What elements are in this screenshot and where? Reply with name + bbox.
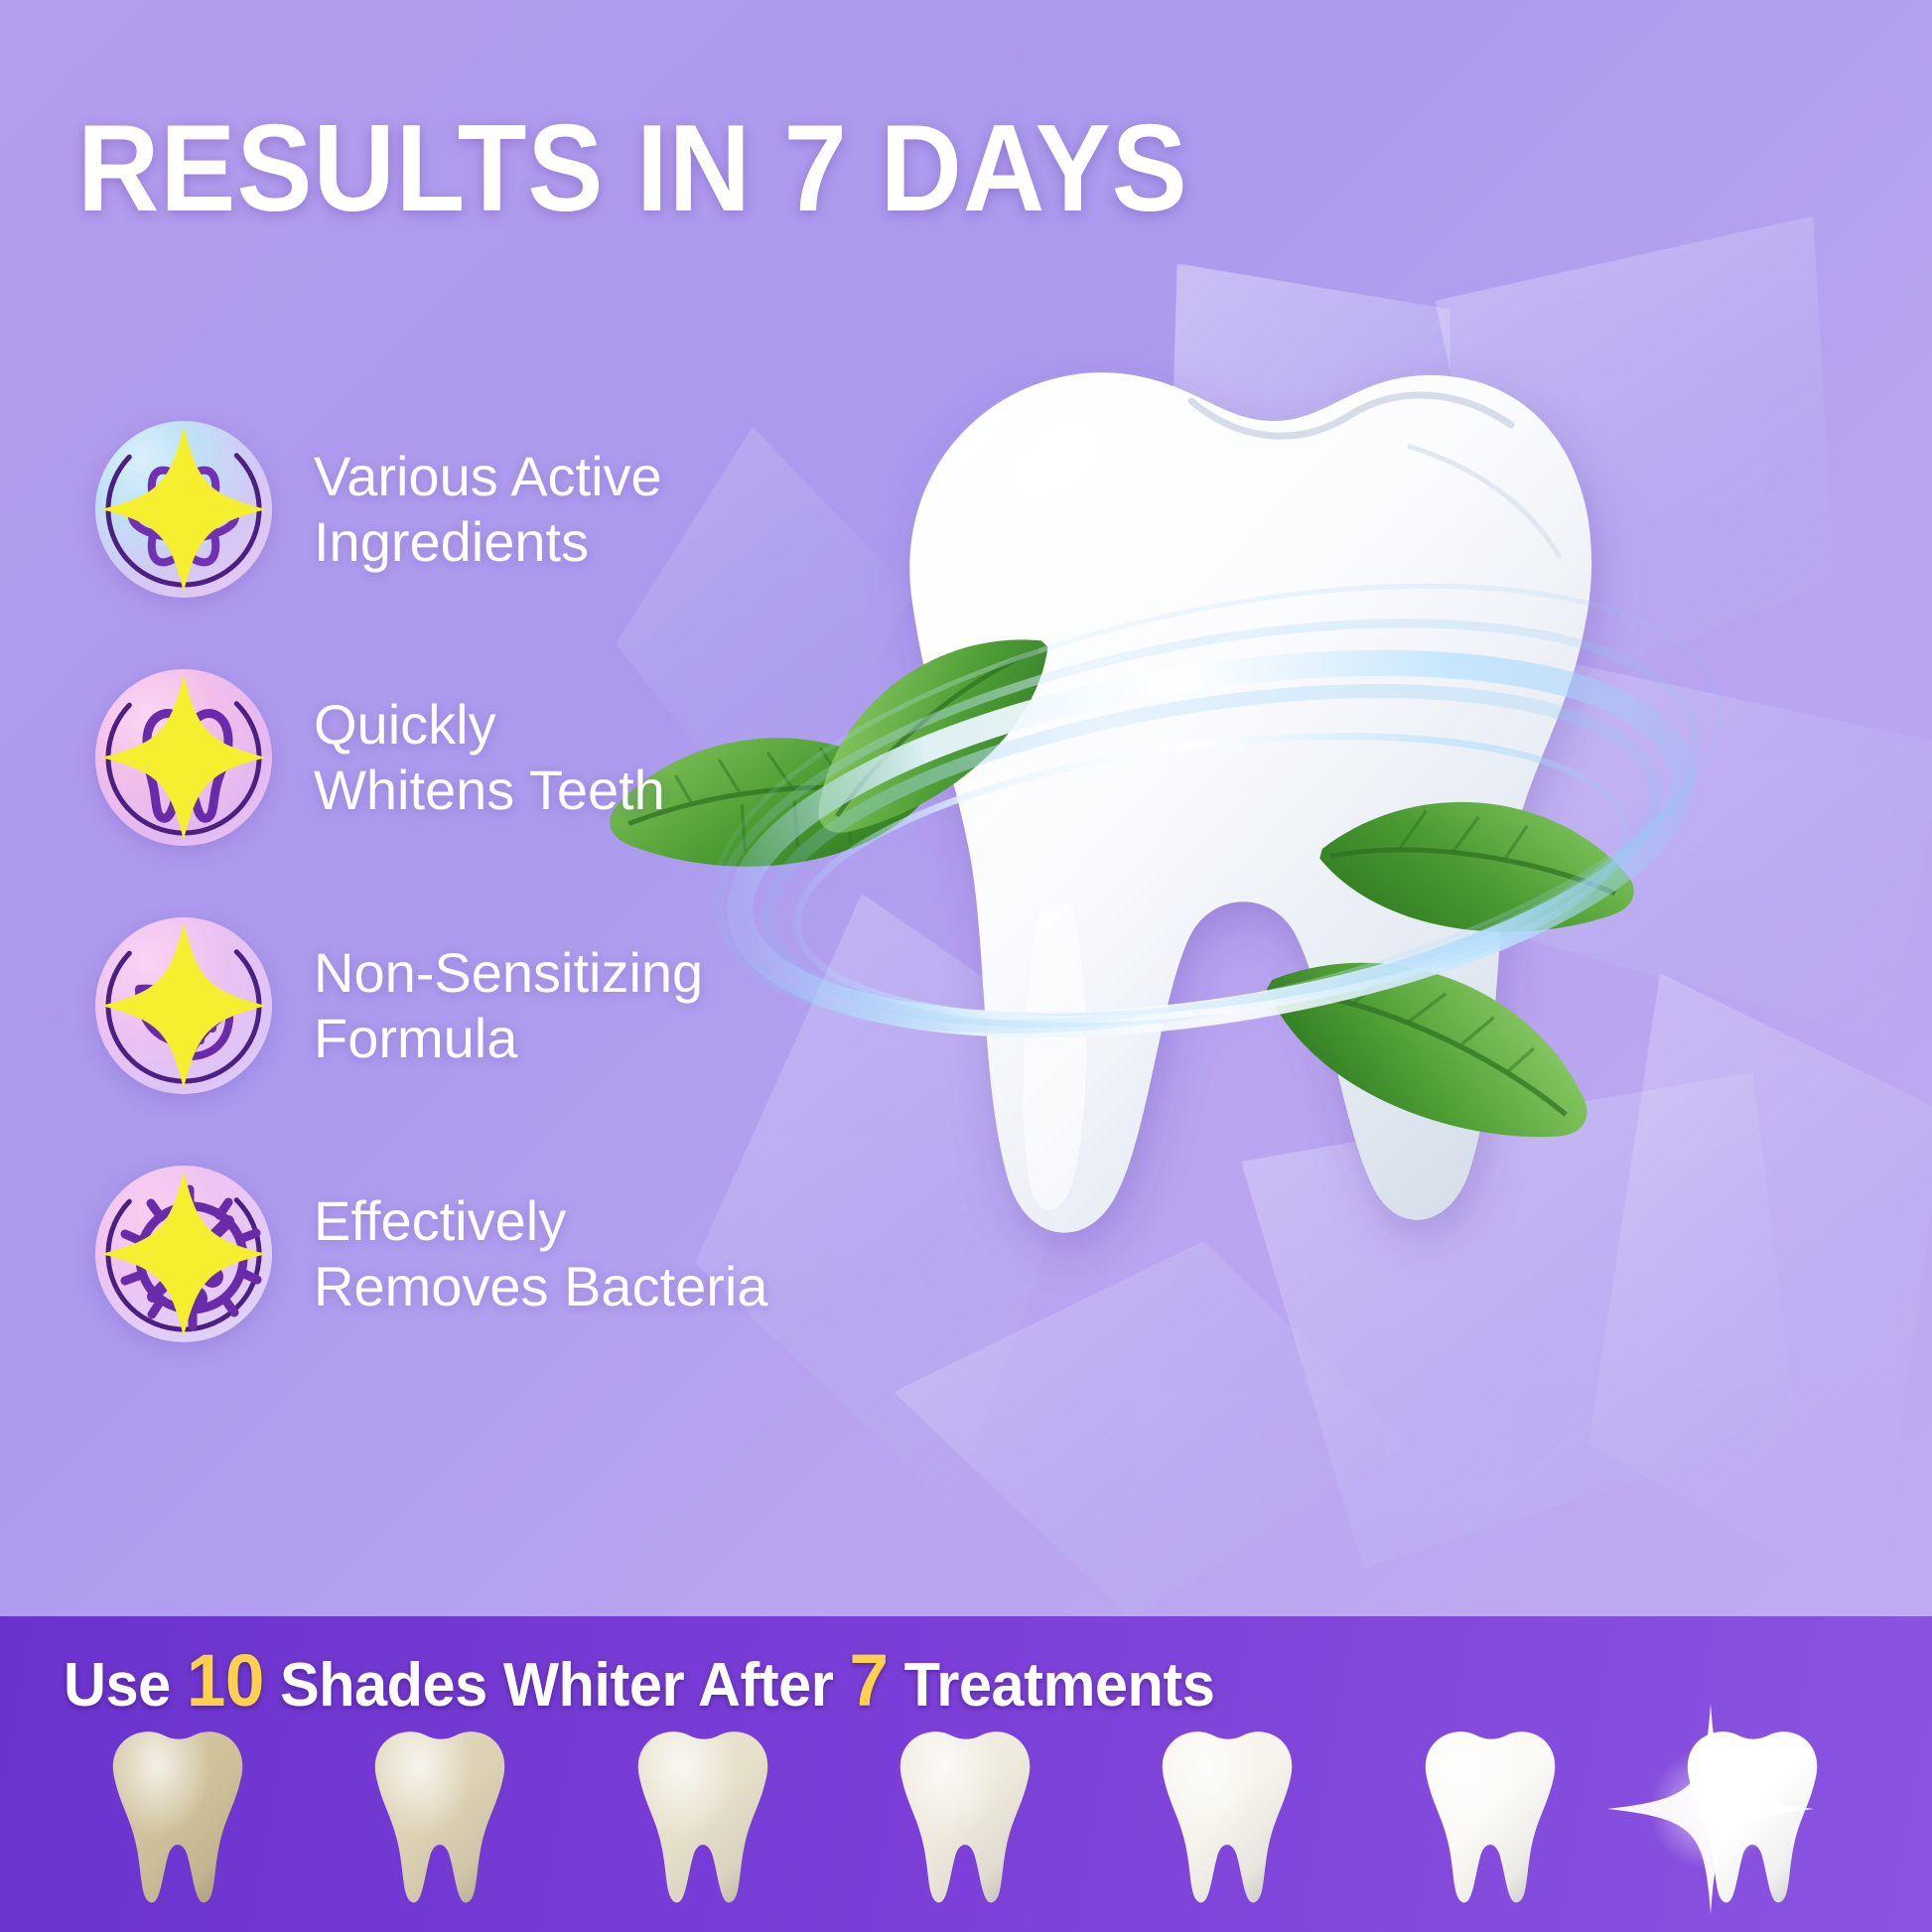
- hero-tooth-graphic: [774, 298, 1668, 1311]
- feature-line-2: Formula: [314, 1006, 703, 1071]
- sparkle-icon: [95, 917, 272, 1094]
- page-title: RESULTS IN 7 DAYS: [77, 107, 1188, 230]
- feature-line-2: Whitens Teeth: [314, 758, 665, 823]
- banner-caption: Use 10 Shades Whiter After 7 Treatments: [64, 1638, 1214, 1723]
- caption-part-1: Use: [64, 1651, 171, 1720]
- feature-text: Quickly Whitens Teeth: [314, 692, 665, 823]
- caption-part-3: Treatments: [904, 1651, 1215, 1720]
- tooth-shade-5: [1134, 1716, 1322, 1922]
- feature-text: Various Active Ingredients: [314, 444, 662, 575]
- feature-line-1: Non-Sensitizing: [314, 940, 703, 1006]
- feature-line-1: Quickly: [314, 692, 665, 758]
- tooth-shade-scale: [0, 1712, 1932, 1928]
- leaves-icon: [95, 917, 272, 1094]
- tooth-icon: [95, 669, 272, 846]
- tooth-shade-1: [84, 1716, 273, 1922]
- feature-item: Effectively Removes Bacteria: [77, 1130, 812, 1378]
- product-poster: RESULTS IN 7 DAYS: [0, 0, 1932, 1932]
- caption-number-treatments: 7: [850, 1639, 889, 1722]
- tooth-shade-6: [1397, 1716, 1586, 1922]
- tooth-shade-2: [346, 1716, 535, 1922]
- no-germs-icon: [95, 1166, 272, 1342]
- shade-progress-banner: Use 10 Shades Whiter After 7 Treatments: [0, 1616, 1932, 1932]
- atom-icon: [95, 421, 272, 598]
- feature-list: Various Active Ingredients Quickly White…: [77, 385, 812, 1378]
- feature-item: Quickly Whitens Teeth: [77, 633, 812, 882]
- sparkle-icon: [95, 1166, 272, 1342]
- caption-number-shades: 10: [187, 1639, 264, 1722]
- feature-line-1: Effectively: [314, 1188, 768, 1254]
- tooth-shade-3: [610, 1716, 798, 1922]
- sparkle-icon: [95, 421, 272, 598]
- tooth-shade-7: [1659, 1716, 1848, 1922]
- feature-line-1: Various Active: [314, 444, 662, 509]
- tooth-shade-4: [872, 1716, 1060, 1922]
- caption-part-2: Shades Whiter After: [280, 1651, 834, 1720]
- sparkle-icon: [95, 669, 272, 846]
- feature-line-2: Removes Bacteria: [314, 1254, 768, 1319]
- feature-text: Effectively Removes Bacteria: [314, 1188, 768, 1319]
- feature-item: Non-Sensitizing Formula: [77, 882, 812, 1130]
- feature-text: Non-Sensitizing Formula: [314, 940, 703, 1071]
- feature-line-2: Ingredients: [314, 509, 662, 575]
- feature-item: Various Active Ingredients: [77, 385, 812, 633]
